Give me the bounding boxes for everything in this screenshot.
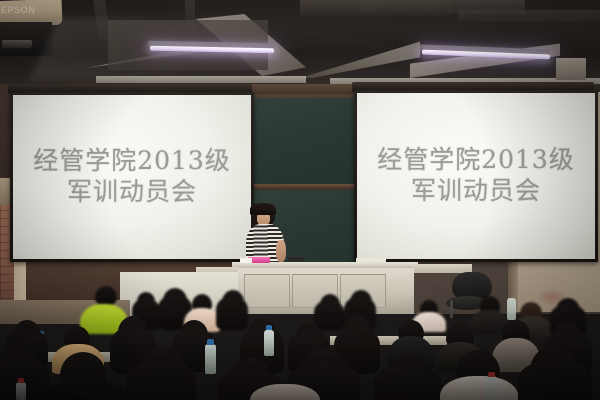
- screen-right-line2: 军训动员会: [411, 175, 541, 207]
- water-bottle-cap: [18, 378, 24, 383]
- speaker-arm: [276, 240, 286, 262]
- ceiling-wall-box: [556, 58, 586, 80]
- student-body: [440, 376, 518, 400]
- screen-left-line2: 军训动员会: [67, 176, 197, 208]
- chalkboard-panel-upper: [253, 98, 355, 184]
- water-bottle: [16, 382, 26, 400]
- ceiling-soffit: [300, 26, 420, 78]
- water-bottle-cap: [266, 325, 272, 330]
- screen-surface-left: 经管学院2013级 军训动员会: [13, 95, 251, 259]
- projection-screen-left: 经管学院2013级 军训动员会: [10, 92, 254, 262]
- audience-front-row: [0, 336, 600, 400]
- ceiling-duct: [458, 10, 600, 22]
- podium-paper: [240, 258, 252, 263]
- water-bottle: [486, 376, 497, 400]
- student-body: [38, 380, 130, 400]
- screen-left-line1: 经管学院2013级: [33, 146, 231, 176]
- student-hair: [518, 360, 592, 400]
- projector-lens: [2, 40, 32, 48]
- screen-surface-right: 经管学院2013级 军训动员会: [357, 93, 595, 259]
- water-bottle: [507, 298, 516, 320]
- student-head: [95, 286, 117, 306]
- podium-papers-right: [356, 258, 386, 262]
- projection-screen-right: 经管学院2013级 军训动员会: [354, 90, 598, 262]
- student-hair: [126, 360, 196, 400]
- screen-right-line1: 经管学院2013级: [377, 145, 575, 175]
- water-bottle-cap: [488, 372, 495, 377]
- lecture-hall-photo: EPSON 经管学院2013级 军训动员会 经管学院2013级 军训动员会: [0, 0, 600, 400]
- student-hair: [374, 366, 442, 400]
- projector-brand-label: EPSON: [1, 5, 36, 15]
- projector-light-beam: [29, 18, 269, 80]
- speaker-hair-top: [250, 203, 276, 215]
- podium-remote: [288, 257, 304, 261]
